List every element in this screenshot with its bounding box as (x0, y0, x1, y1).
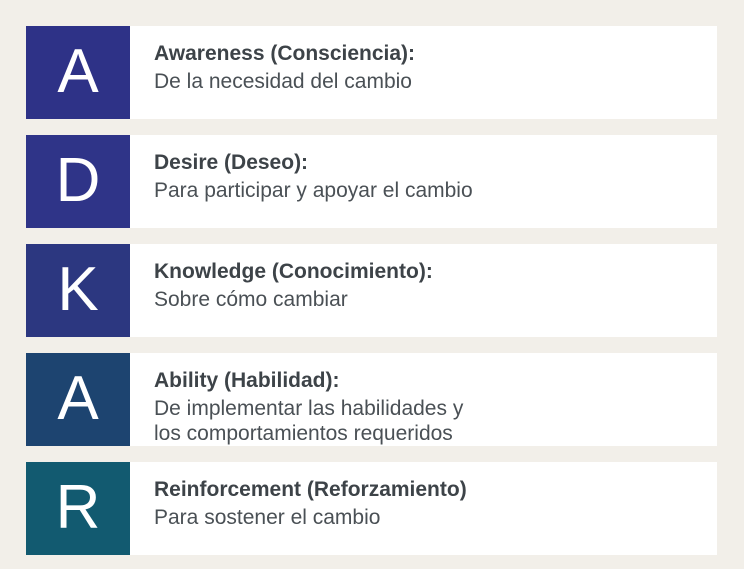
adkar-row-awareness: A Awareness (Consciencia): De la necesid… (26, 26, 717, 119)
row-description-line-1: De la necesidad del cambio (154, 68, 699, 95)
row-description-line-1: Para participar y apoyar el cambio (154, 177, 699, 204)
letter-tile-a-awareness: A (26, 26, 130, 119)
adkar-diagram: A Awareness (Consciencia): De la necesid… (0, 0, 744, 569)
row-description-line-1: Para sostener el cambio (154, 504, 699, 531)
adkar-row-reinforcement: R Reinforcement (Reforzamiento) Para sos… (26, 462, 717, 555)
letter-tile-a-ability: A (26, 353, 130, 446)
row-body-awareness: Awareness (Consciencia): De la necesidad… (130, 26, 717, 119)
row-description-line-1: Sobre cómo cambiar (154, 286, 699, 313)
tile-letter: K (57, 259, 98, 321)
adkar-row-ability: A Ability (Habilidad): De implementar la… (26, 353, 717, 446)
row-body-knowledge: Knowledge (Conocimiento): Sobre cómo cam… (130, 244, 717, 337)
tile-letter: A (57, 41, 98, 103)
row-title: Ability (Habilidad): (154, 367, 699, 395)
row-description-line-2: los comportamientos requeridos (154, 420, 699, 447)
row-body-ability: Ability (Habilidad): De implementar las … (130, 353, 717, 446)
row-title: Desire (Deseo): (154, 149, 699, 177)
row-body-desire: Desire (Deseo): Para participar y apoyar… (130, 135, 717, 228)
row-description-line-1: De implementar las habilidades y (154, 395, 699, 422)
row-title: Awareness (Consciencia): (154, 40, 699, 68)
adkar-row-knowledge: K Knowledge (Conocimiento): Sobre cómo c… (26, 244, 717, 337)
row-title: Knowledge (Conocimiento): (154, 258, 699, 286)
row-body-reinforcement: Reinforcement (Reforzamiento) Para soste… (130, 462, 717, 555)
tile-letter: R (56, 477, 101, 539)
adkar-row-desire: D Desire (Deseo): Para participar y apoy… (26, 135, 717, 228)
letter-tile-r-reinforcement: R (26, 462, 130, 555)
letter-tile-k-knowledge: K (26, 244, 130, 337)
tile-letter: A (57, 368, 98, 430)
letter-tile-d-desire: D (26, 135, 130, 228)
tile-letter: D (56, 150, 101, 212)
row-title: Reinforcement (Reforzamiento) (154, 476, 699, 504)
